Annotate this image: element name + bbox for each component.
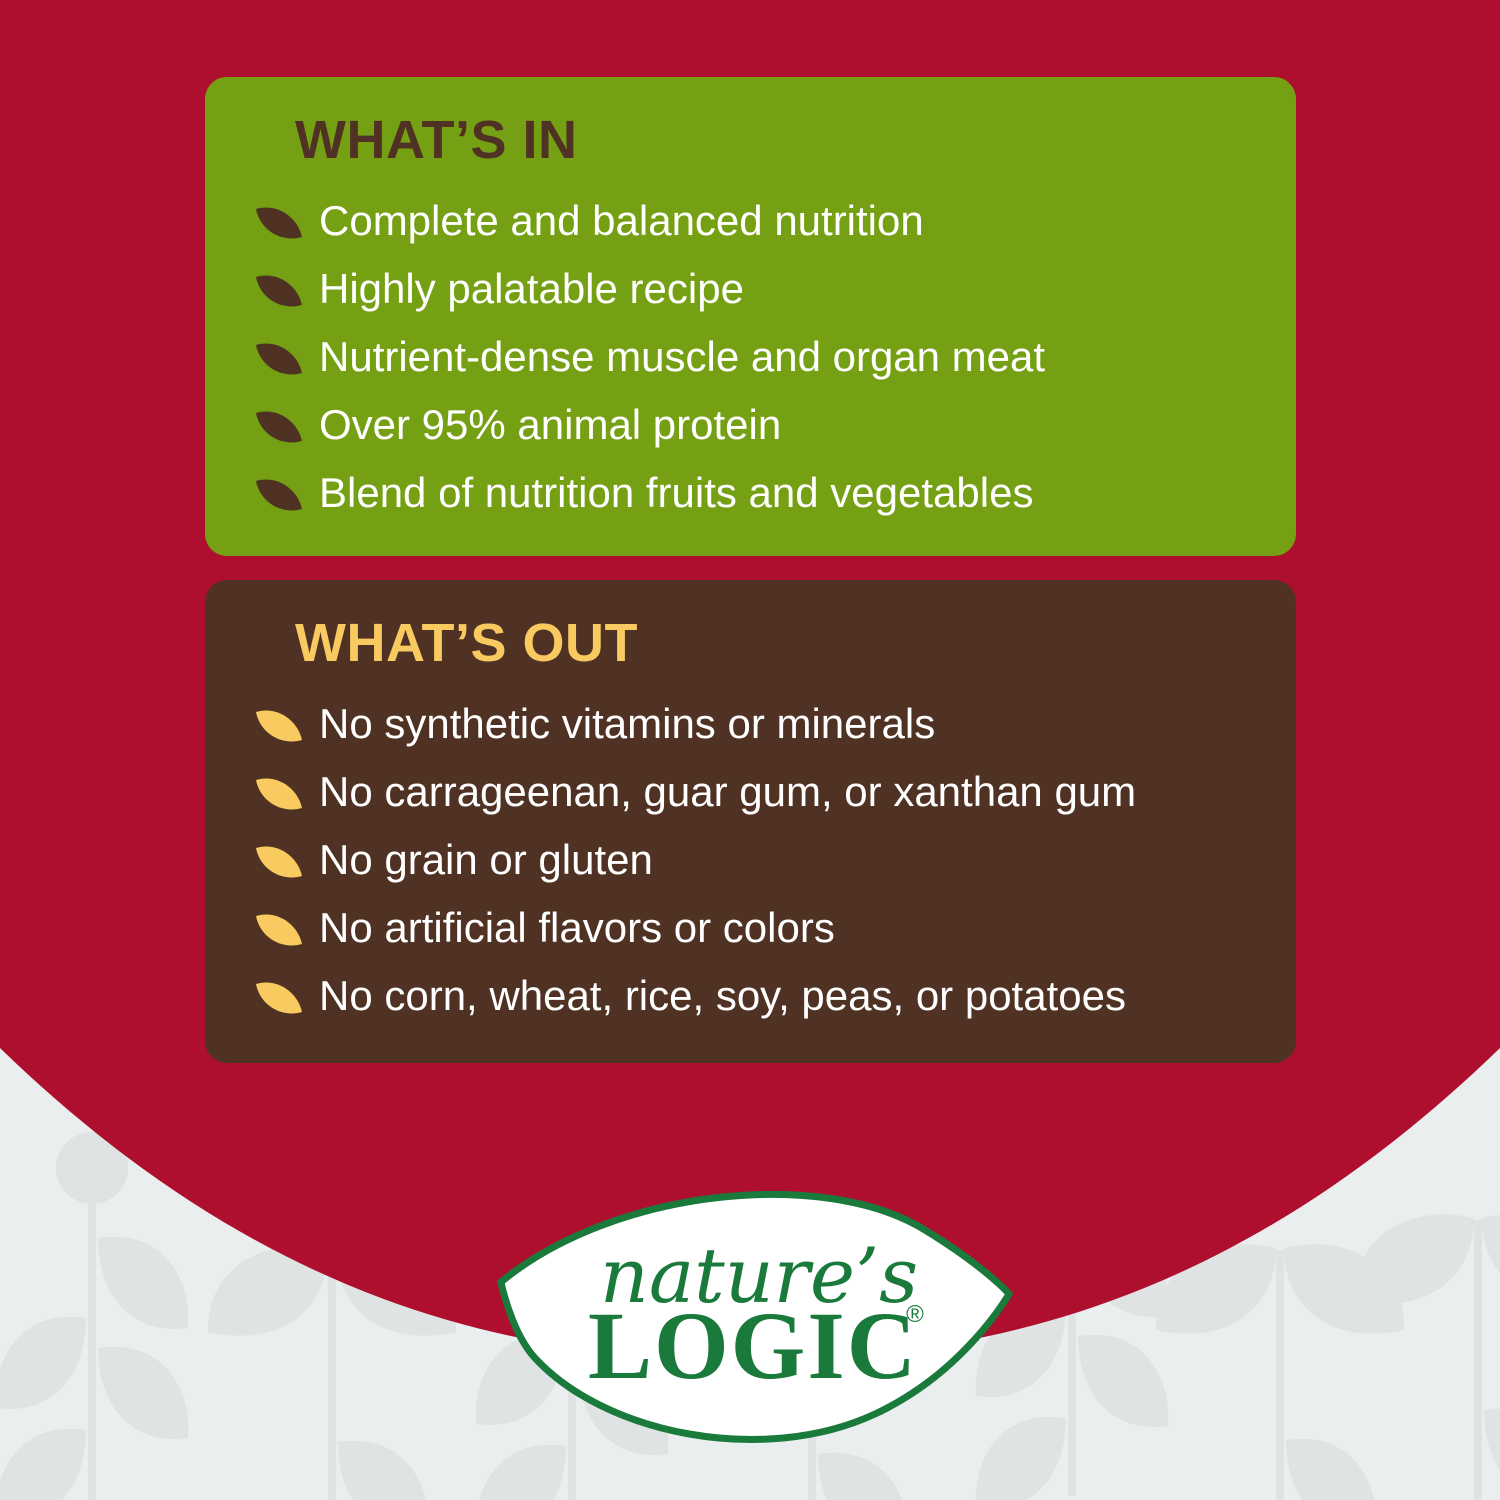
- list-item-label: Complete and balanced nutrition: [319, 198, 924, 243]
- list-item-label: No carrageenan, guar gum, or xanthan gum: [319, 769, 1136, 814]
- whats-out-title: WHAT’S OUT: [295, 616, 1256, 670]
- whats-in-list: Complete and balanced nutrition Highly p…: [253, 187, 1256, 527]
- logo-main-text: LOGIC: [588, 1292, 918, 1399]
- leaf-bullet-icon: [253, 910, 305, 950]
- whats-out-card: WHAT’S OUT No synthetic vitamins or mine…: [205, 580, 1296, 1063]
- list-item: Over 95% animal protein: [253, 391, 1256, 459]
- list-item: No grain or gluten: [253, 826, 1256, 894]
- whats-in-title: WHAT’S IN: [295, 113, 1256, 167]
- list-item-label: Over 95% animal protein: [319, 402, 781, 447]
- list-item-label: No artificial flavors or colors: [319, 905, 835, 950]
- leaf-bullet-icon: [253, 978, 305, 1018]
- leaf-bullet-icon: [253, 475, 305, 515]
- leaf-bullet-icon: [253, 339, 305, 379]
- brand-logo: nature’s LOGIC ®: [495, 1190, 1015, 1448]
- whats-out-list: No synthetic vitamins or minerals No car…: [253, 690, 1256, 1030]
- leaf-bullet-icon: [253, 203, 305, 243]
- leaf-bullet-icon: [253, 407, 305, 447]
- list-item-label: No synthetic vitamins or minerals: [319, 701, 935, 746]
- list-item: Highly palatable recipe: [253, 255, 1256, 323]
- list-item-label: Blend of nutrition fruits and vegetables: [319, 470, 1033, 515]
- leaf-bullet-icon: [253, 842, 305, 882]
- promo-graphic: WHAT’S IN Complete and balanced nutritio…: [0, 0, 1500, 1500]
- list-item: No corn, wheat, rice, soy, peas, or pota…: [253, 962, 1256, 1030]
- list-item: No artificial flavors or colors: [253, 894, 1256, 962]
- list-item-label: Highly palatable recipe: [319, 266, 744, 311]
- leaf-bullet-icon: [253, 774, 305, 814]
- list-item: No synthetic vitamins or minerals: [253, 690, 1256, 758]
- list-item: No carrageenan, guar gum, or xanthan gum: [253, 758, 1256, 826]
- logo-registered-mark: ®: [906, 1301, 924, 1328]
- list-item: Complete and balanced nutrition: [253, 187, 1256, 255]
- whats-in-card: WHAT’S IN Complete and balanced nutritio…: [205, 77, 1296, 556]
- list-item-label: Nutrient-dense muscle and organ meat: [319, 334, 1045, 379]
- list-item-label: No grain or gluten: [319, 837, 653, 882]
- leaf-bullet-icon: [253, 271, 305, 311]
- list-item-label: No corn, wheat, rice, soy, peas, or pota…: [319, 973, 1126, 1018]
- list-item: Blend of nutrition fruits and vegetables: [253, 459, 1256, 527]
- leaf-bullet-icon: [253, 706, 305, 746]
- list-item: Nutrient-dense muscle and organ meat: [253, 323, 1256, 391]
